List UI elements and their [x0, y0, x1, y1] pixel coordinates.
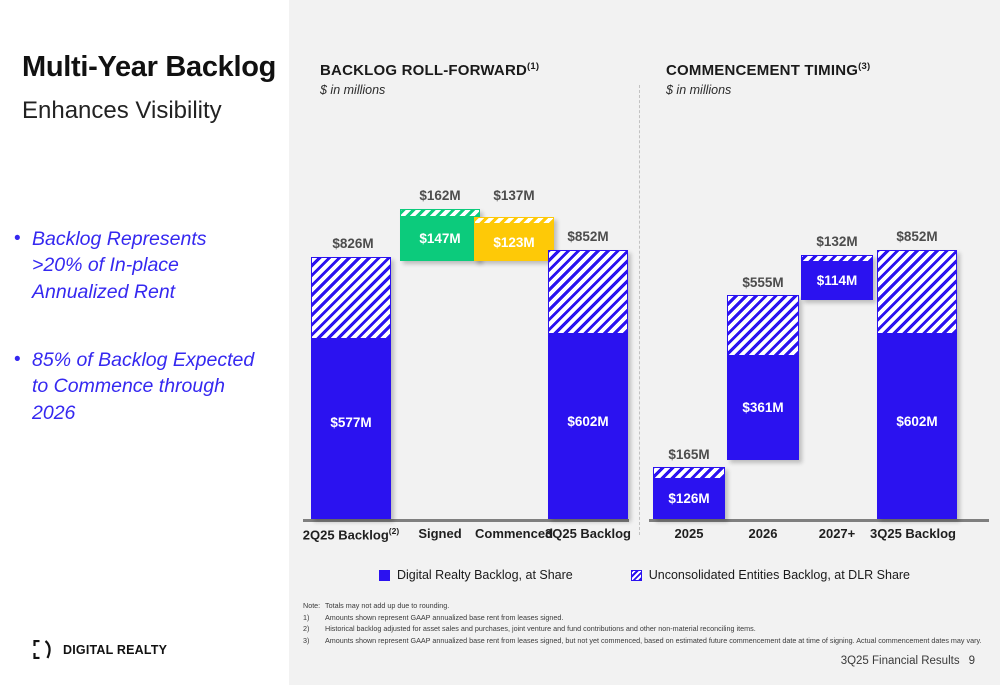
bullet-marker-icon: •: [14, 347, 32, 373]
total-label-2025: $165M: [647, 447, 731, 462]
footnote-note-marker: Note:: [303, 600, 325, 612]
bar-segment-dlr-3q25-right: $602M: [877, 334, 957, 519]
category-label-3q25-backlog-left: 3Q25 Backlog: [540, 526, 636, 541]
company-logo: DIGITAL REALTY: [33, 640, 167, 659]
category-text-2026: 2026: [749, 526, 778, 541]
category-text-2027plus: 2027+: [819, 526, 856, 541]
bar-2q25-backlog[interactable]: $577M: [311, 257, 391, 519]
bar-segment-unconsolidated-commenced: [474, 217, 554, 224]
legend-label-unconsolidated-backlog: Unconsolidated Entities Backlog, at DLR …: [649, 568, 910, 582]
total-label-2q25-backlog: $826M: [305, 236, 401, 251]
bullet-text-0: Backlog Represents >20% of In-place Annu…: [32, 226, 242, 305]
footnote-2-marker: 2): [303, 623, 325, 635]
footnote-1: 1) Amounts shown represent GAAP annualiz…: [303, 612, 983, 624]
footnote-3-marker: 3): [303, 635, 325, 647]
segment-label-2026: $361M: [727, 400, 799, 415]
bar-segment-dlr-2026: $361M: [727, 356, 799, 460]
footnote-2-text: Historical backlog adjusted for asset sa…: [325, 623, 983, 635]
chart-legend: Digital Realty Backlog, at Share Unconso…: [289, 568, 1000, 582]
category-label-2026: 2026: [721, 526, 805, 541]
total-label-2027plus: $132M: [795, 234, 879, 249]
page-number: 9: [969, 655, 975, 667]
bar-segment-dlr-2025: $126M: [653, 479, 725, 519]
bar-segment-unconsolidated-2025: [653, 467, 725, 479]
footnote-1-marker: 1): [303, 612, 325, 624]
category-text-signed: Signed: [418, 526, 461, 541]
bar-segment-unconsolidated-3q25-right: [877, 250, 957, 334]
bar-3q25-backlog-left[interactable]: $602M: [548, 250, 628, 519]
title-panel: Multi-Year Backlog Enhances Visibility •…: [0, 0, 289, 685]
segment-label-2q25: $577M: [311, 415, 391, 430]
footnote-note-text: Totals may not add up due to rounding.: [325, 600, 983, 612]
bullet-text-1: 85% of Backlog Expected to Commence thro…: [32, 347, 264, 426]
legend-item-dlr-backlog: Digital Realty Backlog, at Share: [379, 568, 573, 582]
solid-blue-swatch-icon: [379, 570, 390, 581]
segment-label-2025: $126M: [653, 491, 725, 506]
total-label-3q25-backlog-right: $852M: [869, 229, 965, 244]
chart-backlog-roll-forward: $826M $577M 2Q25 Backlog(2) $162M $147M …: [289, 0, 639, 685]
bar-segment-unconsolidated-signed: [400, 209, 480, 217]
legend-label-dlr-backlog: Digital Realty Backlog, at Share: [397, 568, 573, 582]
bar-3q25-backlog-right[interactable]: $602M: [877, 250, 957, 519]
legend-item-unconsolidated-backlog: Unconsolidated Entities Backlog, at DLR …: [631, 568, 910, 582]
bar-segment-dlr-2027plus: $114M: [801, 262, 873, 300]
deck-name: 3Q25 Financial Results: [841, 655, 960, 667]
category-label-2025: 2025: [647, 526, 731, 541]
category-text-2025: 2025: [675, 526, 704, 541]
page-title: Multi-Year Backlog: [22, 52, 276, 83]
bar-2025[interactable]: $126M: [653, 467, 725, 519]
bullet-marker-icon: •: [14, 226, 32, 252]
x-axis-line-right: [649, 519, 989, 522]
hatched-blue-swatch-icon: [631, 570, 642, 581]
footnote-3: 3) Amounts shown represent GAAP annualiz…: [303, 635, 983, 647]
bar-segment-unconsolidated-2026: [727, 295, 799, 356]
page-subtitle: Enhances Visibility: [22, 98, 222, 124]
chart-commencement-timing: $165M $126M 2025 $555M $361M 2026 $132M …: [641, 0, 1000, 685]
bar-2026[interactable]: $361M: [727, 295, 799, 460]
bar-segment-unconsolidated-2q25: [311, 257, 391, 339]
segment-label-3q25-right: $602M: [877, 414, 957, 429]
bar-signed[interactable]: $147M: [400, 209, 480, 261]
slide-footer: 3Q25 Financial Results9: [841, 655, 975, 667]
footnote-note: Note: Totals may not add up due to round…: [303, 600, 983, 612]
bullet-item-1: • 85% of Backlog Expected to Commence th…: [14, 347, 264, 426]
total-label-3q25-backlog-left: $852M: [540, 229, 636, 244]
bar-2027plus[interactable]: $114M: [801, 255, 873, 300]
charts-panel: BACKLOG ROLL-FORWARD(1) $ in millions CO…: [289, 0, 1000, 685]
segment-label-2027plus: $114M: [801, 273, 873, 288]
category-text-3q25-right: 3Q25 Backlog: [870, 526, 956, 541]
bullet-item-0: • Backlog Represents >20% of In-place An…: [14, 226, 242, 305]
category-text-3q25-left: 3Q25 Backlog: [545, 526, 631, 541]
footnote-1-text: Amounts shown represent GAAP annualized …: [325, 612, 983, 624]
chart-divider: [639, 85, 640, 535]
bar-segment-unconsolidated-3q25-left: [548, 250, 628, 334]
footnotes-block: Note: Totals may not add up due to round…: [303, 600, 983, 647]
category-text-2q25: 2Q25 Backlog: [303, 527, 389, 542]
footnote-2: 2) Historical backlog adjusted for asset…: [303, 623, 983, 635]
x-axis-line-left: [303, 519, 629, 522]
category-label-3q25-backlog-right: 3Q25 Backlog: [865, 526, 961, 541]
bar-segment-unconsolidated-2027plus: [801, 255, 873, 262]
logo-wordmark: DIGITAL REALTY: [63, 643, 167, 657]
total-label-commenced: $137M: [466, 188, 562, 203]
footnote-3-text: Amounts shown represent GAAP annualized …: [325, 635, 983, 647]
bar-segment-dlr-signed: $147M: [400, 217, 480, 261]
segment-label-signed: $147M: [400, 231, 480, 246]
segment-label-3q25-left: $602M: [548, 414, 628, 429]
bar-segment-dlr-3q25-left: $602M: [548, 334, 628, 519]
digital-realty-bracket-icon: [33, 640, 54, 659]
total-label-2026: $555M: [721, 275, 805, 290]
category-label-2q25-backlog: 2Q25 Backlog(2): [295, 526, 407, 542]
bar-segment-dlr-2q25: $577M: [311, 339, 391, 519]
